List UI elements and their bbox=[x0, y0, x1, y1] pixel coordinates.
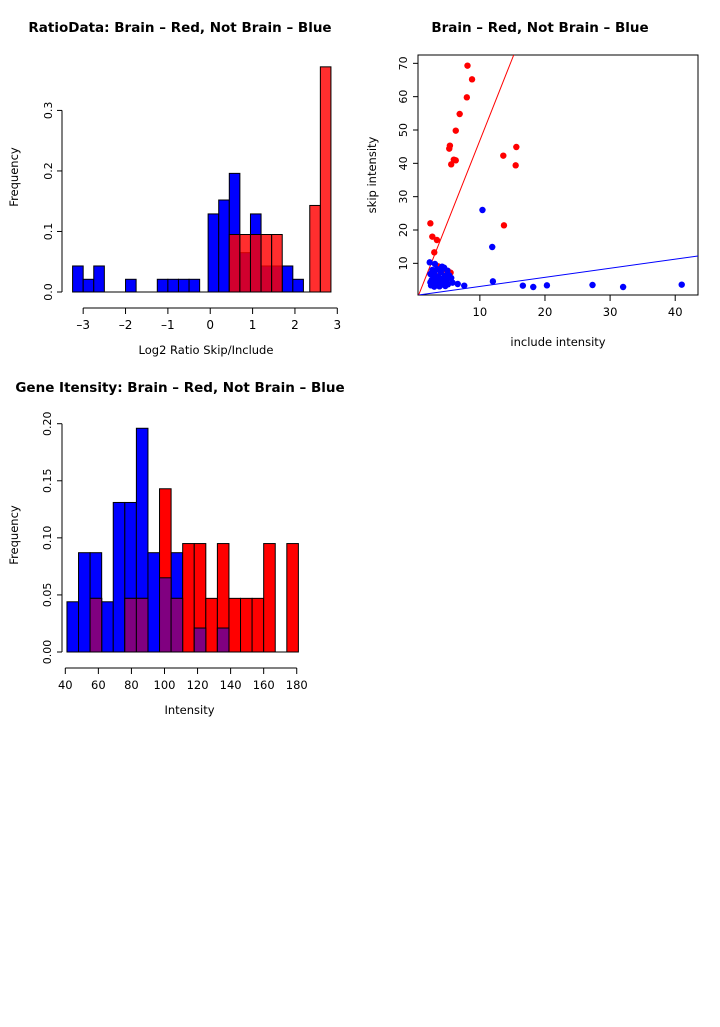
x-axis-tick-label: 10 bbox=[473, 305, 488, 319]
histogram-bar-not-brain bbox=[94, 266, 105, 292]
plot-frame bbox=[418, 55, 698, 295]
x-axis-tick-label: 120 bbox=[187, 678, 209, 692]
x-axis-tick-label: 20 bbox=[538, 305, 553, 319]
histogram-bar-brain bbox=[206, 598, 218, 652]
x-axis-label: include intensity bbox=[510, 335, 605, 349]
y-axis-tick-label: 30 bbox=[397, 190, 410, 204]
histogram-bar-brain bbox=[310, 205, 321, 292]
reference-line-brain-trend bbox=[419, 55, 514, 295]
histogram-bar-not-brain bbox=[83, 279, 94, 292]
scatter-point bbox=[442, 283, 448, 289]
scatter-point bbox=[434, 237, 440, 243]
y-axis-tick-label: 0.15 bbox=[41, 469, 54, 494]
x-axis-tick-label: 140 bbox=[220, 678, 242, 692]
histogram-bar-overlap bbox=[217, 628, 229, 652]
histogram-bar-not-brain bbox=[67, 602, 79, 652]
histogram-bar-not-brain bbox=[79, 553, 91, 652]
histogram-bar-not-brain bbox=[293, 279, 304, 292]
scatter-point bbox=[456, 111, 462, 117]
scatter-plot: 1020304050607010203040include intensitys… bbox=[360, 0, 720, 360]
histogram-bar-brain bbox=[287, 544, 299, 652]
y-axis-tick-label: 70 bbox=[397, 56, 410, 70]
scatter-point bbox=[490, 278, 496, 284]
x-axis-tick-label: 0 bbox=[206, 318, 214, 332]
y-axis-tick-label: 0.20 bbox=[41, 411, 54, 436]
scatter-point bbox=[501, 222, 507, 228]
histogram-bar-not-brain bbox=[113, 502, 125, 652]
panel-gene-intensity-histogram: Gene Itensity: Brain – Red, Not Brain – … bbox=[0, 360, 360, 720]
histogram-bar-not-brain bbox=[157, 279, 168, 292]
histogram-bar-brain bbox=[252, 598, 264, 652]
y-axis-tick-label: 50 bbox=[397, 123, 410, 137]
scatter-content bbox=[419, 55, 698, 295]
x-axis-tick-label: 30 bbox=[603, 305, 618, 319]
x-axis-tick-label: 160 bbox=[253, 678, 275, 692]
y-axis-label: Frequency bbox=[7, 505, 21, 565]
histogram-bar-brain bbox=[261, 235, 272, 293]
histogram-bar-brain bbox=[229, 235, 240, 293]
scatter-point bbox=[448, 161, 454, 167]
histogram-bar-not-brain bbox=[208, 214, 219, 292]
histogram-bar-overlap bbox=[171, 598, 183, 652]
ratio-histogram-plot: 0.00.10.20.3–3–2–10123Log2 Ratio Skip/In… bbox=[0, 0, 360, 360]
y-axis-tick-label: 0.1 bbox=[42, 223, 55, 241]
histogram-bar-overlap bbox=[125, 598, 137, 652]
y-axis-tick-label: 60 bbox=[397, 90, 410, 104]
histogram-bar-not-brain bbox=[189, 279, 200, 292]
scatter-point bbox=[431, 249, 437, 255]
scatter-point bbox=[427, 220, 433, 226]
histogram-bar-not-brain bbox=[73, 266, 84, 292]
scatter-point bbox=[620, 284, 626, 290]
panel-intensity-scatter: Brain – Red, Not Brain – Blue 1020304050… bbox=[360, 0, 720, 360]
y-axis-tick-label: 40 bbox=[397, 156, 410, 170]
x-axis-tick-label: –3 bbox=[76, 318, 90, 332]
histogram-bar-not-brain bbox=[282, 266, 293, 292]
histogram-bar-brain bbox=[320, 67, 331, 292]
y-axis-tick-label: 20 bbox=[397, 223, 410, 237]
y-axis-tick-label: 0.05 bbox=[41, 583, 54, 608]
x-axis-tick-label: –2 bbox=[119, 318, 133, 332]
y-axis-tick-label: 10 bbox=[397, 256, 410, 270]
scatter-point bbox=[513, 144, 519, 150]
scatter-point bbox=[469, 76, 475, 82]
y-axis-label: Frequency bbox=[7, 147, 21, 207]
x-axis-tick-label: 2 bbox=[291, 318, 299, 332]
histogram-bar-overlap bbox=[194, 628, 206, 652]
x-axis-tick-label: 40 bbox=[668, 305, 683, 319]
x-axis-tick-label: 80 bbox=[124, 678, 139, 692]
histogram-bar-not-brain bbox=[148, 553, 160, 652]
histogram-bar-overlap bbox=[136, 598, 148, 652]
y-axis-tick-label: 0.3 bbox=[42, 102, 55, 120]
scatter-point bbox=[520, 282, 526, 288]
histogram-bar-brain bbox=[241, 598, 253, 652]
scatter-point bbox=[464, 94, 470, 100]
histogram-bar-not-brain bbox=[219, 200, 230, 292]
histogram-bar-overlap bbox=[90, 598, 102, 652]
x-axis-tick-label: 60 bbox=[91, 678, 106, 692]
scatter-point bbox=[500, 152, 506, 158]
y-axis-tick-label: 0.00 bbox=[41, 640, 54, 665]
scatter-point bbox=[461, 282, 467, 288]
x-axis-tick-label: 1 bbox=[249, 318, 257, 332]
gene-intensity-plot: 0.000.050.100.150.2040608010012014016018… bbox=[0, 360, 360, 720]
x-axis-tick-label: 40 bbox=[58, 678, 73, 692]
x-axis-tick-label: 3 bbox=[333, 318, 341, 332]
histogram-bar-overlap bbox=[160, 578, 172, 652]
y-axis-label: skip intensity bbox=[365, 136, 379, 213]
histogram-bar-not-brain bbox=[168, 279, 179, 292]
x-axis-tick-label: 100 bbox=[154, 678, 176, 692]
histogram-bar-brain bbox=[264, 544, 276, 652]
scatter-point bbox=[446, 145, 452, 151]
scatter-point bbox=[455, 281, 461, 287]
scatter-point bbox=[453, 127, 459, 133]
reference-line-not-brain-trend bbox=[419, 256, 698, 295]
x-axis-label: Log2 Ratio Skip/Include bbox=[139, 343, 274, 357]
histogram-bar-brain bbox=[272, 235, 283, 293]
scatter-point bbox=[489, 244, 495, 250]
x-axis-label: Intensity bbox=[164, 703, 214, 717]
panel-probe-info: G6899622@J916373@j_at altCassette Mark3 … bbox=[360, 360, 720, 720]
histogram-bar-brain bbox=[250, 235, 261, 293]
scatter-point bbox=[530, 284, 536, 290]
histogram-bar-not-brain bbox=[102, 602, 114, 652]
y-axis-tick-label: 0.0 bbox=[42, 283, 55, 301]
scatter-point bbox=[464, 62, 470, 68]
histogram-bar-not-brain bbox=[178, 279, 189, 292]
scatter-point bbox=[512, 162, 518, 168]
histogram-bar-brain bbox=[229, 598, 241, 652]
x-axis-tick-label: –1 bbox=[161, 318, 175, 332]
y-axis-tick-label: 0.10 bbox=[41, 526, 54, 551]
y-axis-tick-label: 0.2 bbox=[42, 162, 55, 180]
scatter-point bbox=[679, 281, 685, 287]
scatter-point bbox=[431, 283, 437, 289]
scatter-point bbox=[544, 282, 550, 288]
panel-ratio-histogram: RatioData: Brain – Red, Not Brain – Blue… bbox=[0, 0, 360, 360]
scatter-point bbox=[589, 282, 595, 288]
histogram-bar-brain bbox=[240, 235, 251, 293]
histogram-bar-brain bbox=[183, 544, 195, 652]
histogram-bar-not-brain bbox=[126, 279, 137, 292]
scatter-point bbox=[479, 207, 485, 213]
x-axis-tick-label: 180 bbox=[286, 678, 308, 692]
